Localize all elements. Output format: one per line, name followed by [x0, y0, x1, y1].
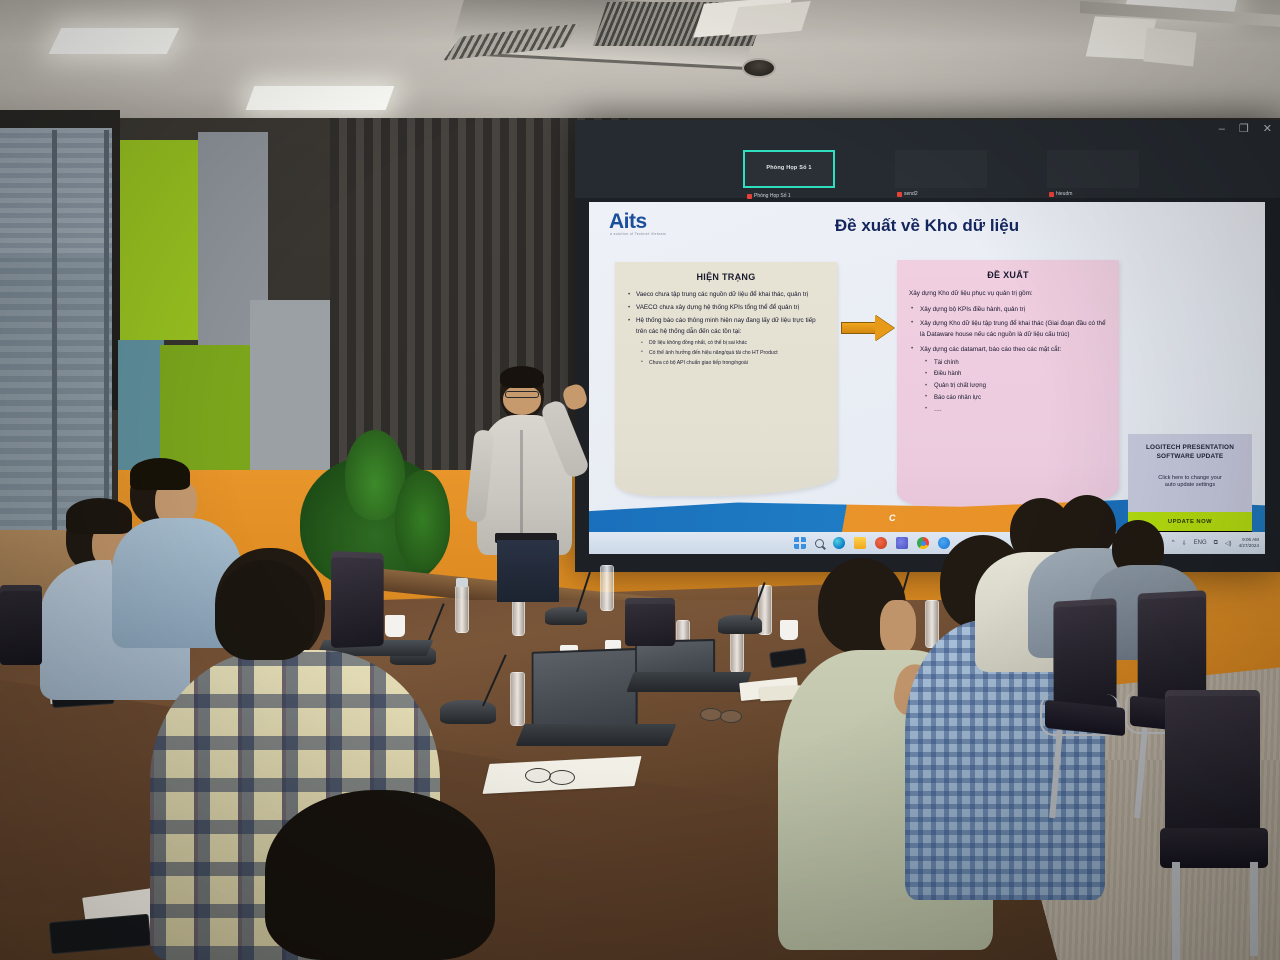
chair-leg: [1172, 862, 1180, 960]
popup-title-line1: LOGITECH PRESENTATION: [1136, 443, 1244, 452]
bullet-item: Xây dựng bộ KPIs điều hành, quản trị: [909, 304, 1107, 316]
water-bottle: [510, 672, 525, 726]
clock-date: 4/27/2024: [1239, 543, 1259, 549]
chair-backrest: [625, 598, 675, 646]
onedrive-icon[interactable]: ⇩: [1182, 540, 1187, 547]
eyeglasses: [525, 768, 551, 783]
presentation-display[interactable]: – ❐ ✕ Phòng Họp Số 1 Phòng Họp Số 1 send…: [575, 120, 1280, 572]
coffee-mug: [385, 615, 405, 637]
zoom-icon: [747, 194, 752, 199]
popup-body: LOGITECH PRESENTATION SOFTWARE UPDATE Cl…: [1128, 434, 1252, 512]
chair-leg: [1250, 862, 1258, 956]
attendee-hair: [66, 498, 132, 534]
participant-name-2: send2: [897, 191, 918, 197]
wall-panel-green: [120, 140, 198, 340]
participant-name-3: hieudm: [1049, 191, 1072, 197]
maximize-icon[interactable]: ❐: [1239, 124, 1249, 135]
taskbar-icons: [794, 537, 950, 549]
volume-icon[interactable]: ◁): [1225, 540, 1232, 547]
presenter-face: [503, 385, 541, 415]
participant-tile-2[interactable]: send2: [895, 150, 987, 188]
system-tray[interactable]: ^ ⇩ ENG ⧉ ◁) 9:06 AM 4/27/2024: [1172, 537, 1259, 548]
popup-title-line2: SOFTWARE UPDATE: [1136, 452, 1244, 461]
sub-bullet-item: Điều hành: [909, 369, 1107, 381]
chevron-up-icon[interactable]: ^: [1172, 540, 1175, 546]
laptop-keyboard[interactable]: [626, 672, 751, 692]
chair-backrest: [0, 585, 42, 665]
ceiling-panel: [1143, 27, 1196, 66]
shirt-placket: [520, 430, 523, 540]
sub-bullet-item: Báo cáo nhân lực: [909, 393, 1107, 405]
water-bottle: [455, 585, 469, 633]
ceiling: [0, 0, 1280, 128]
teams-icon[interactable]: [896, 537, 908, 549]
proposal-heading: ĐỀ XUẤT: [909, 270, 1107, 280]
clock[interactable]: 9:06 AM 4/27/2024: [1239, 537, 1259, 548]
potted-plant-leaf: [395, 470, 450, 570]
zoom-icon: [1049, 192, 1054, 197]
file-explorer-icon[interactable]: [854, 537, 866, 549]
ceiling-panel: [729, 1, 811, 37]
bullet-item: Hệ thống báo cáo thông minh hiện nay đan…: [627, 315, 825, 337]
tile-label: Phòng Họp Số 1: [745, 165, 833, 171]
start-icon[interactable]: [794, 537, 806, 549]
popup-subtitle-line2: auto update settings: [1136, 482, 1244, 490]
sub-bullet-item: Chưa có bộ API chuẩn giao tiếp trong/ngo…: [627, 359, 825, 368]
presenter-hair: [500, 366, 544, 388]
conference-microphone: [718, 615, 762, 634]
sub-bullet-item: Tài chính: [909, 358, 1107, 370]
office-icon[interactable]: [875, 537, 887, 549]
arrow-right-icon: [841, 315, 895, 341]
attendee-hair: [130, 458, 190, 490]
window-frame: [104, 130, 109, 560]
eyeglasses: [549, 770, 575, 785]
ceiling-light: [49, 28, 180, 54]
conference-room-scene: – ❐ ✕ Phòng Họp Số 1 Phòng Họp Số 1 send…: [0, 0, 1280, 960]
presenter-glasses: [505, 391, 539, 398]
sub-bullet-item: Có thể ảnh hưởng đến hiệu năng/quá tải c…: [627, 349, 825, 358]
chair-backrest: [1165, 690, 1260, 840]
eyeglasses: [700, 708, 722, 721]
edge-icon[interactable]: [833, 537, 845, 549]
zoom-icon: [897, 192, 902, 197]
participant-name-1: Phòng Họp Số 1: [747, 193, 791, 199]
video-participant-tiles: Phòng Họp Số 1 Phòng Họp Số 1 send2 hieu…: [743, 150, 1139, 188]
search-icon[interactable]: [815, 539, 824, 548]
eyeglasses: [720, 710, 742, 723]
laptop-screen[interactable]: [532, 648, 638, 730]
ceiling-light: [246, 86, 395, 110]
window-frame: [52, 130, 57, 560]
bullet-item: VAECO chưa xây dựng hệ thống KPIs tổng t…: [627, 302, 825, 313]
coffee-mug: [780, 620, 798, 640]
participant-tile-1[interactable]: Phòng Họp Số 1 Phòng Họp Số 1: [743, 150, 835, 188]
conference-microphone: [440, 700, 496, 724]
proposal-box: ĐỀ XUẤT Xây dựng Kho dữ liệu phục vụ quả…: [897, 260, 1119, 512]
laptop-keyboard[interactable]: [516, 724, 677, 746]
language-indicator[interactable]: ENG: [1194, 540, 1207, 546]
display-icon[interactable]: ⧉: [1214, 540, 1218, 547]
slide-title: Đề xuất về Kho dữ liệu: [589, 216, 1265, 236]
sub-bullet-item: Quản trị chất lượng: [909, 381, 1107, 393]
bullet-item: Xây dựng các datamart, báo cáo theo các …: [909, 344, 1107, 356]
bullet-item: Vaeco chưa tập trung các nguồn dữ liệu đ…: [627, 289, 825, 300]
close-icon[interactable]: ✕: [1263, 124, 1272, 135]
zoom-icon[interactable]: [938, 537, 950, 549]
ceiling-speaker-icon: [742, 58, 776, 78]
chair-backrest: [331, 551, 384, 648]
sub-bullet-item: Dữ liệu không đồng nhất, có thể bị sai k…: [627, 339, 825, 348]
sub-bullet-item: ….: [909, 405, 1107, 417]
popup-subtitle-line1: Click here to change your: [1136, 475, 1244, 483]
conference-microphone: [545, 607, 587, 625]
attendee-face: [880, 600, 916, 654]
bullet-item: Xây dựng Kho dữ liệu tập trung để khai t…: [909, 318, 1107, 341]
current-state-box: HIỆN TRẠNG Vaeco chưa tập trung các nguồ…: [615, 262, 837, 496]
presenter-trousers: [497, 540, 559, 602]
chrome-icon[interactable]: [917, 537, 929, 549]
banner-text: C: [889, 513, 896, 523]
water-bottle: [600, 565, 614, 611]
window-controls[interactable]: – ❐ ✕: [1219, 124, 1272, 135]
participant-tile-3[interactable]: hieudm: [1047, 150, 1139, 188]
current-state-heading: HIỆN TRẠNG: [627, 272, 825, 282]
proposal-lead: Xây dựng Kho dữ liệu phục vụ quản trị gồ…: [909, 289, 1107, 300]
minimize-icon[interactable]: –: [1219, 124, 1225, 135]
bottle-cap: [456, 578, 468, 587]
